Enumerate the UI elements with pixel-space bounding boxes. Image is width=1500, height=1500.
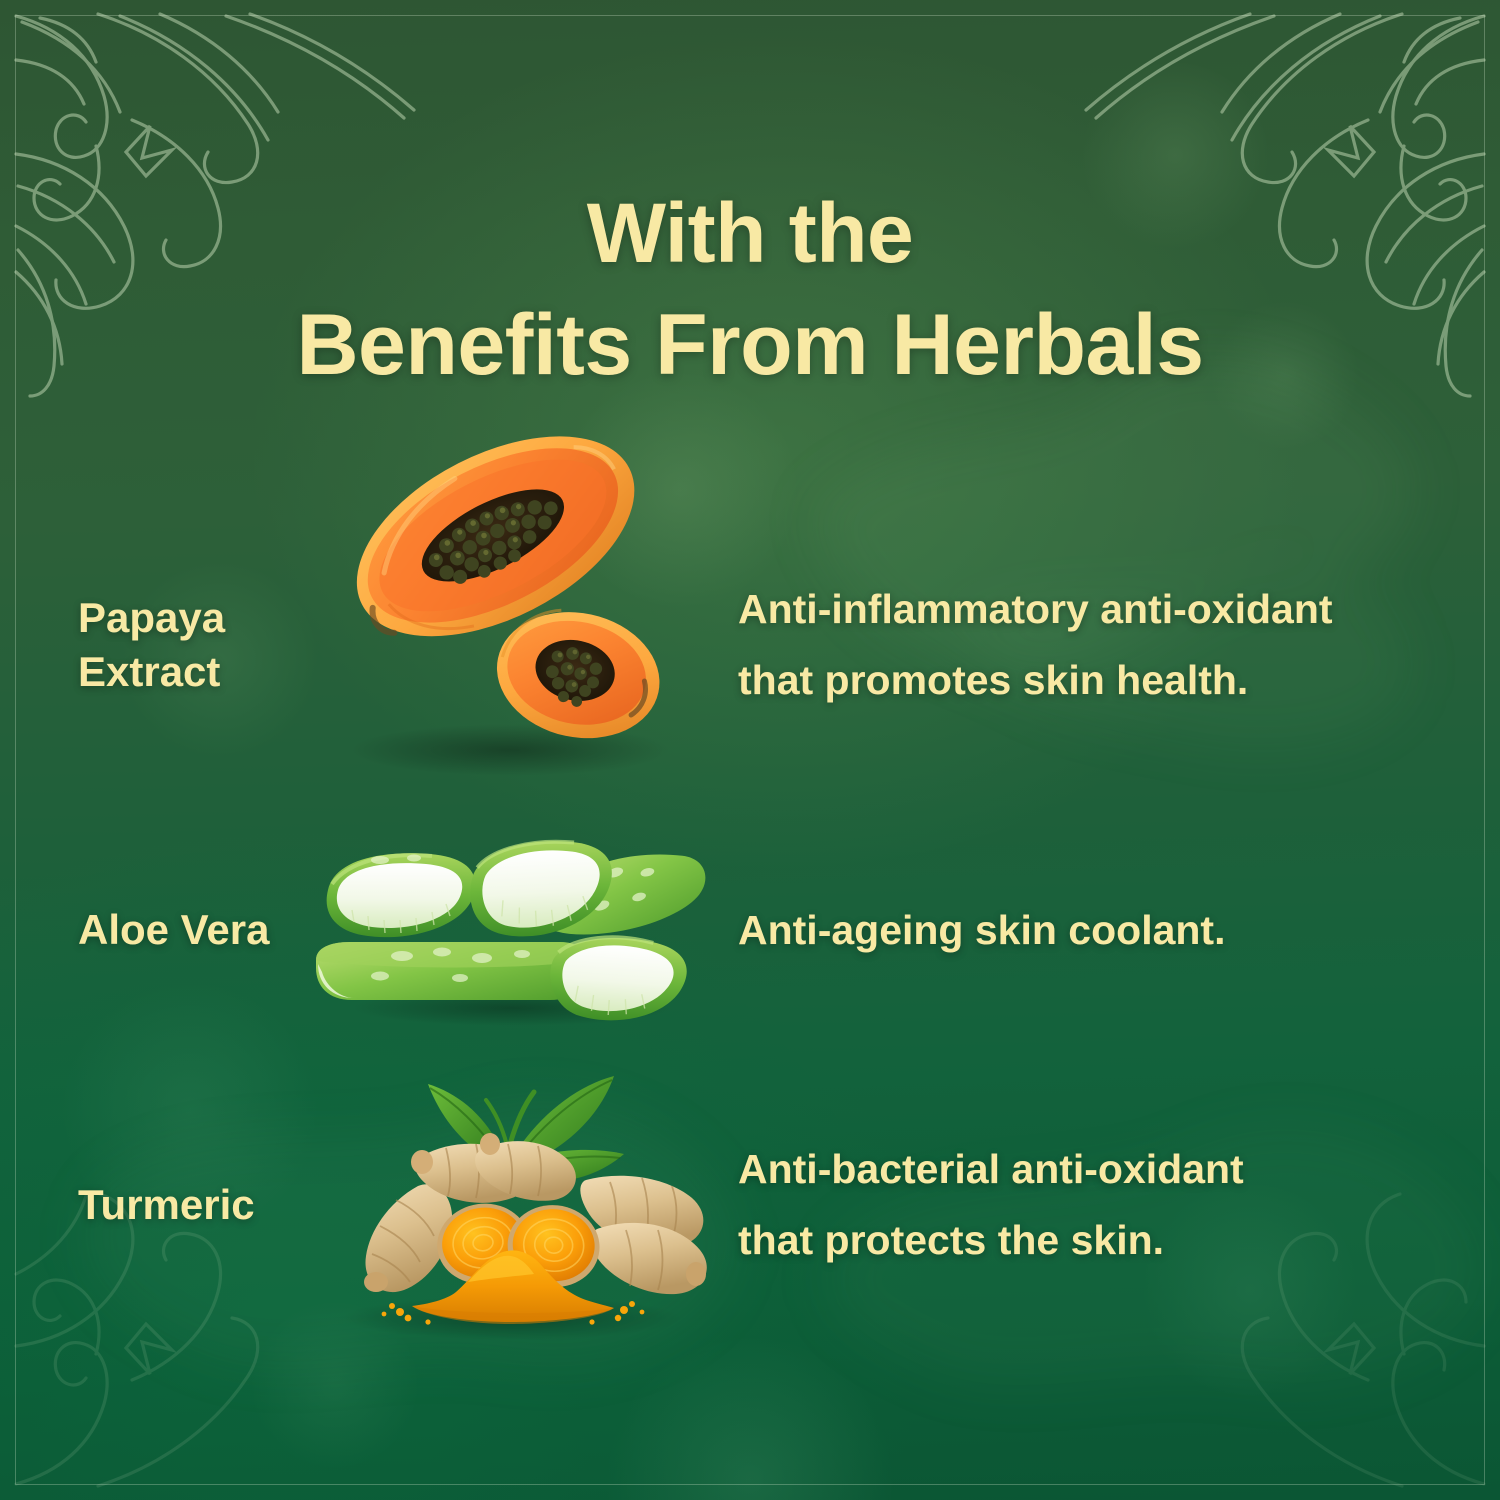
ingredient-description-papaya: Anti-inflammatory anti-oxidant that prom… — [720, 574, 1500, 715]
headline-line-1: With the — [40, 178, 1460, 289]
ingredient-row-papaya: Papaya Extract — [0, 500, 1500, 790]
description-line-2: that protects the skin. — [738, 1205, 1460, 1276]
herbal-benefits-poster: With the Benefits From Herbals Papaya Ex… — [0, 0, 1500, 1500]
ingredient-description-turmeric: Anti-bacterial anti-oxidant that protect… — [720, 1134, 1500, 1275]
headline-line-2: Benefits From Herbals — [40, 289, 1460, 403]
ingredient-label-papaya: Papaya Extract — [0, 591, 300, 699]
description-line-2: that promotes skin health. — [738, 645, 1460, 716]
ingredient-label-line-2: Extract — [78, 645, 300, 699]
ingredient-row-turmeric: Turmeric — [0, 1060, 1500, 1350]
ingredient-label-turmeric: Turmeric — [0, 1178, 300, 1232]
turmeric-image — [300, 1060, 720, 1350]
description-line-1: Anti-inflammatory anti-oxidant — [738, 574, 1460, 645]
papaya-image — [300, 500, 720, 790]
ingredient-label-aloe-vera: Aloe Vera — [0, 903, 300, 957]
ingredient-description-aloe-vera: Anti-ageing skin coolant. — [720, 895, 1500, 966]
page-title: With the Benefits From Herbals — [0, 178, 1500, 402]
aloe-vera-image — [300, 830, 720, 1030]
description-line-1: Anti-ageing skin coolant. — [738, 895, 1460, 966]
ingredient-label-line-1: Aloe Vera — [78, 903, 300, 957]
ingredient-row-aloe-vera: Aloe Vera — [0, 830, 1500, 1030]
ingredient-label-line-1: Turmeric — [78, 1178, 300, 1232]
description-line-1: Anti-bacterial anti-oxidant — [738, 1134, 1460, 1205]
ingredient-label-line-1: Papaya — [78, 591, 300, 645]
